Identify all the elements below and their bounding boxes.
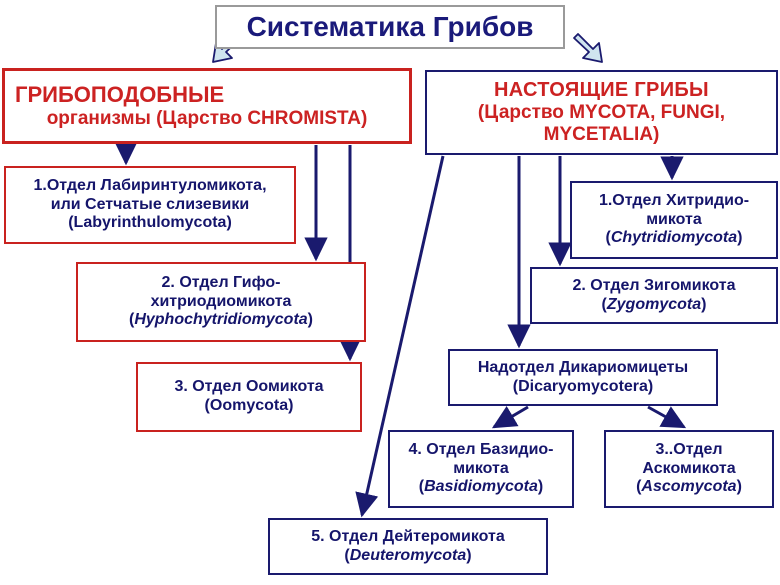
division-box-hyphochytridiomycota[interactable]: 2. Отдел Гифо- хитриодиомикота (Hyphochy… bbox=[76, 262, 366, 342]
diagram-canvas: Систематика Грибов ГРИБОПОДОБНЫЕ организ… bbox=[0, 0, 780, 585]
division-box-zygomycota[interactable]: 2. Отдел Зигомикота (Zygomycota) bbox=[530, 267, 778, 324]
page-title: Систематика Грибов bbox=[215, 5, 565, 49]
kingdom-mycota-line3: MYCETALIA) bbox=[544, 124, 660, 146]
division-latin: (Oomycota) bbox=[205, 397, 294, 416]
kingdom-mycota-line2: (Царство MYCOTA, FUNGI, bbox=[478, 102, 725, 124]
superdivision-line1: Надотдел Дикариомицеты bbox=[478, 359, 688, 378]
division-box-basidiomycota[interactable]: 4. Отдел Базидио- микота (Basidiomycota) bbox=[388, 430, 574, 508]
division-line2: хитриодиомикота bbox=[151, 293, 292, 312]
division-box-deuteromycota[interactable]: 5. Отдел Дейтеромикота (Deuteromycota) bbox=[268, 518, 548, 575]
division-box-chytridiomycota[interactable]: 1.Отдел Хитридио- микота (Chytridiomycot… bbox=[570, 181, 778, 259]
division-line1: 2. Отдел Зигомикота bbox=[573, 277, 736, 296]
division-line1: 2. Отдел Гифо- bbox=[162, 274, 281, 293]
page-title-text: Систематика Грибов bbox=[247, 11, 534, 44]
division-latin: (Deuteromycota) bbox=[344, 547, 471, 566]
division-line2: Аскомикота bbox=[642, 460, 735, 479]
division-box-labyrinthulomycota[interactable]: 1.Отдел Лабиринтуломикота, или Сетчатые … bbox=[4, 166, 296, 244]
division-latin: (Basidiomycota) bbox=[419, 478, 543, 497]
division-line1: 5. Отдел Дейтеромикота bbox=[311, 528, 505, 547]
superdivision-latin: (Dicaryomycotera) bbox=[513, 378, 654, 397]
division-latin: (Labyrinthulomycota) bbox=[68, 214, 232, 233]
division-box-ascomycota[interactable]: 3..Отдел Аскомикота (Ascomycota) bbox=[604, 430, 774, 508]
right-block-arrow-glyph bbox=[574, 34, 602, 62]
division-latin: (Zygomycota) bbox=[602, 296, 707, 315]
division-line1: 3. Отдел Оомикота bbox=[174, 378, 323, 397]
division-line1: 1.Отдел Лабиринтуломикота, bbox=[33, 177, 266, 196]
division-line2: микота bbox=[453, 460, 509, 479]
superdivision-box-dicaryomycotera[interactable]: Надотдел Дикариомицеты (Dicaryomycotera) bbox=[448, 349, 718, 406]
division-line2: микота bbox=[646, 211, 702, 230]
kingdom-chromista-line2: организмы (Царство CHROMISTA) bbox=[47, 108, 368, 130]
division-line1: 3..Отдел bbox=[655, 441, 722, 460]
division-line1: 1.Отдел Хитридио- bbox=[599, 192, 749, 211]
division-latin: (Ascomycota) bbox=[636, 478, 742, 497]
connector-dicaryomycotera-to-ascomycota bbox=[648, 407, 684, 427]
division-latin: (Chytridiomycota) bbox=[606, 229, 743, 248]
connector-dicaryomycotera-to-basidiomycota bbox=[494, 407, 528, 427]
kingdom-chromista-line1: ГРИБОПОДОБНЫЕ bbox=[5, 82, 224, 108]
division-box-oomycota[interactable]: 3. Отдел Оомикота (Oomycota) bbox=[136, 362, 362, 432]
division-line2: или Сетчатые слизевики bbox=[51, 196, 249, 215]
kingdom-mycota-line1: НАСТОЯЩИЕ ГРИБЫ bbox=[494, 79, 709, 102]
kingdom-box-chromista[interactable]: ГРИБОПОДОБНЫЕ организмы (Царство CHROMIS… bbox=[2, 68, 412, 144]
division-latin: (Hyphochytridiomycota) bbox=[129, 311, 313, 330]
division-line1: 4. Отдел Базидио- bbox=[409, 441, 554, 460]
kingdom-box-mycota[interactable]: НАСТОЯЩИЕ ГРИБЫ (Царство MYCOTA, FUNGI, … bbox=[425, 70, 778, 155]
